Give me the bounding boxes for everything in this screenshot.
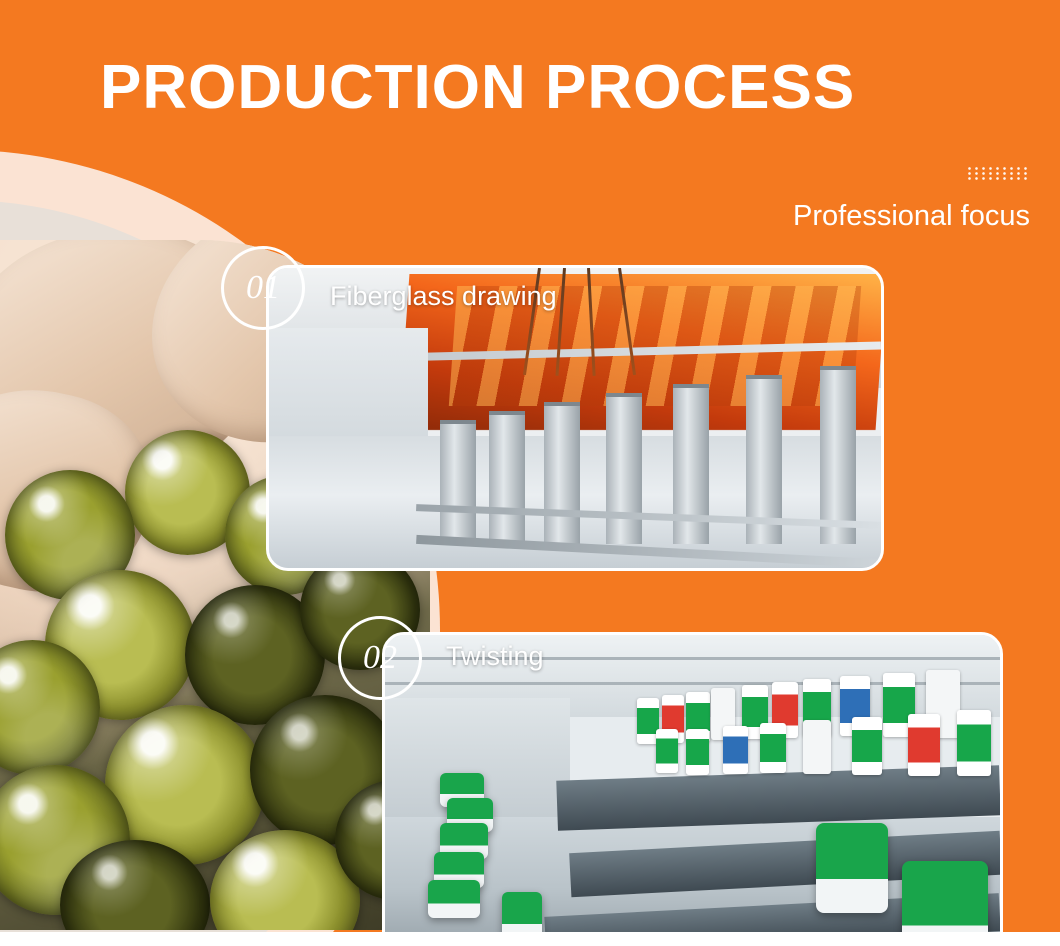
green-yarn-drum [428,880,480,918]
photo-machine [606,393,642,544]
yarn-bobbin [957,710,991,776]
photo-machine [489,411,525,544]
yarn-bobbin [852,717,882,775]
step-1-number-badge: 01 [221,246,305,330]
yarn-bobbin [803,720,831,774]
bottom-white-strip [0,932,1060,946]
step-1-label: Fiberglass drawing [330,281,557,312]
yarn-bobbin [686,729,709,775]
yarn-bobbin [656,729,678,773]
step-2-label: Twisting [446,641,544,672]
yarn-bobbin [908,714,940,776]
step-2-number-badge: 02 [338,616,422,700]
page-subtitle: Professional focus [793,200,1030,233]
photo-machine [440,420,476,544]
yarn-bobbin [760,723,786,773]
fiberglass-drawing-photo [269,268,881,568]
twisting-photo [385,635,1000,946]
poster-root: PRODUCTION PROCESS Professional focus [0,0,1060,946]
green-yarn-drum [816,823,888,913]
dotted-grid-icon [966,166,1028,182]
yarn-bobbin [723,726,748,774]
step-2-image-card [382,632,1003,946]
photo-machine [820,366,856,544]
page-title: PRODUCTION PROCESS [100,52,855,123]
photo-machine [544,402,580,544]
